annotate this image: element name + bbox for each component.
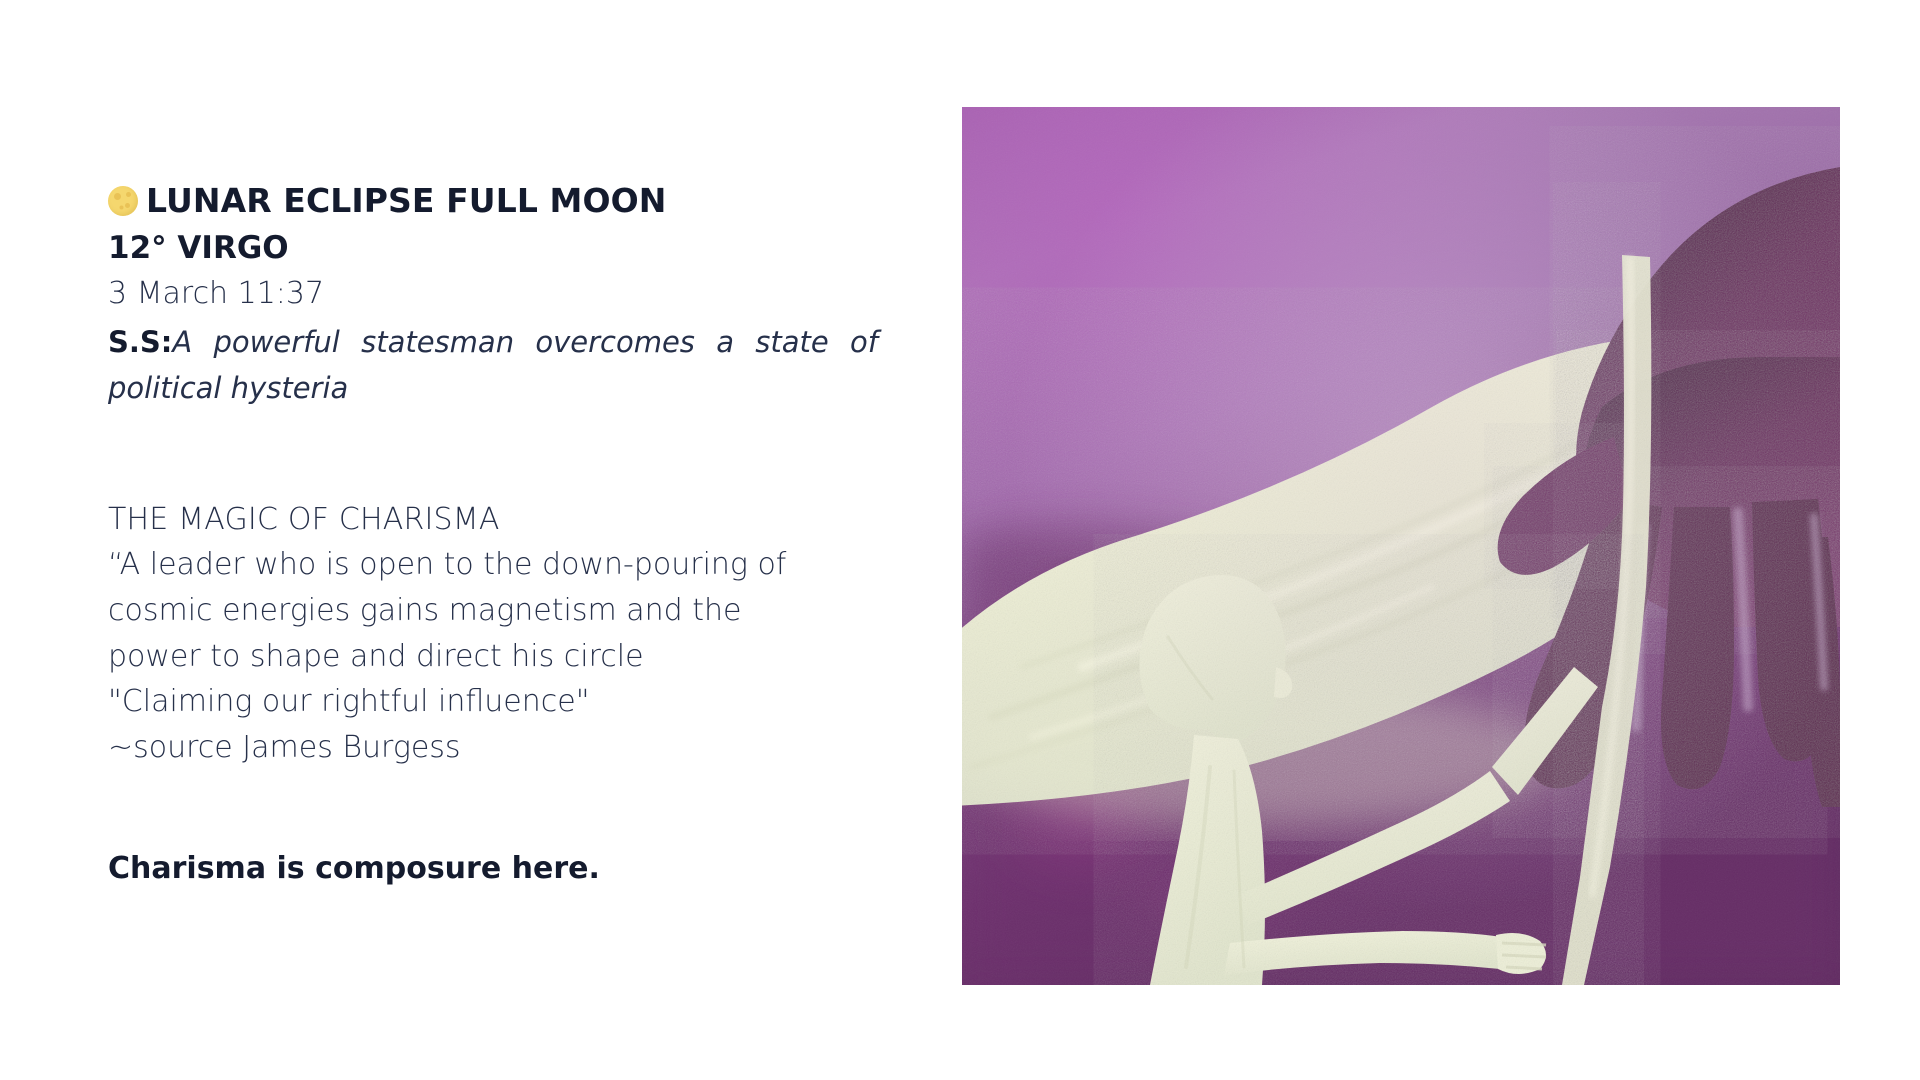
quote-block: “A leader who is open to the down-pourin… <box>108 542 938 770</box>
sabian-text: A powerful statesman overcomes a state o… <box>108 325 878 405</box>
charisma-section: THE MAGIC OF CHARISMA “A leader who is o… <box>108 497 938 770</box>
headline-block: LUNAR ECLIPSE FULL MOON 12° VIRGO 3 Marc… <box>108 178 938 411</box>
quote-line: power to shape and direct his circle <box>108 634 938 680</box>
quote-line: cosmic energies gains magnetism and the <box>108 588 938 634</box>
headline-text: LUNAR ECLIPSE FULL MOON <box>146 181 667 220</box>
zodiac-degree: 12° VIRGO <box>108 225 938 272</box>
sabian-label: S.S: <box>108 325 172 359</box>
quote-line: “A leader who is open to the down-pourin… <box>108 542 938 588</box>
quote-line: "Claiming our rightful influence" <box>108 679 938 725</box>
closing-statement: Charisma is composure here. <box>108 848 938 890</box>
artwork-image <box>962 107 1840 985</box>
quote-source-line: ~source James Burgess <box>108 725 938 771</box>
full-moon-icon <box>108 186 138 216</box>
spacer-upper <box>108 411 938 497</box>
page-title: LUNAR ECLIPSE FULL MOON <box>108 178 938 225</box>
text-column: LUNAR ECLIPSE FULL MOON 12° VIRGO 3 Marc… <box>108 178 938 890</box>
event-datetime: 3 March 11:37 <box>108 271 938 318</box>
sabian-symbol-block: S.S:A powerful statesman overcomes a sta… <box>108 320 878 412</box>
slide-canvas: LUNAR ECLIPSE FULL MOON 12° VIRGO 3 Marc… <box>0 0 1920 1080</box>
artwork-svg <box>962 107 1840 985</box>
spacer-lower <box>108 770 938 848</box>
section-title: THE MAGIC OF CHARISMA <box>108 497 938 542</box>
